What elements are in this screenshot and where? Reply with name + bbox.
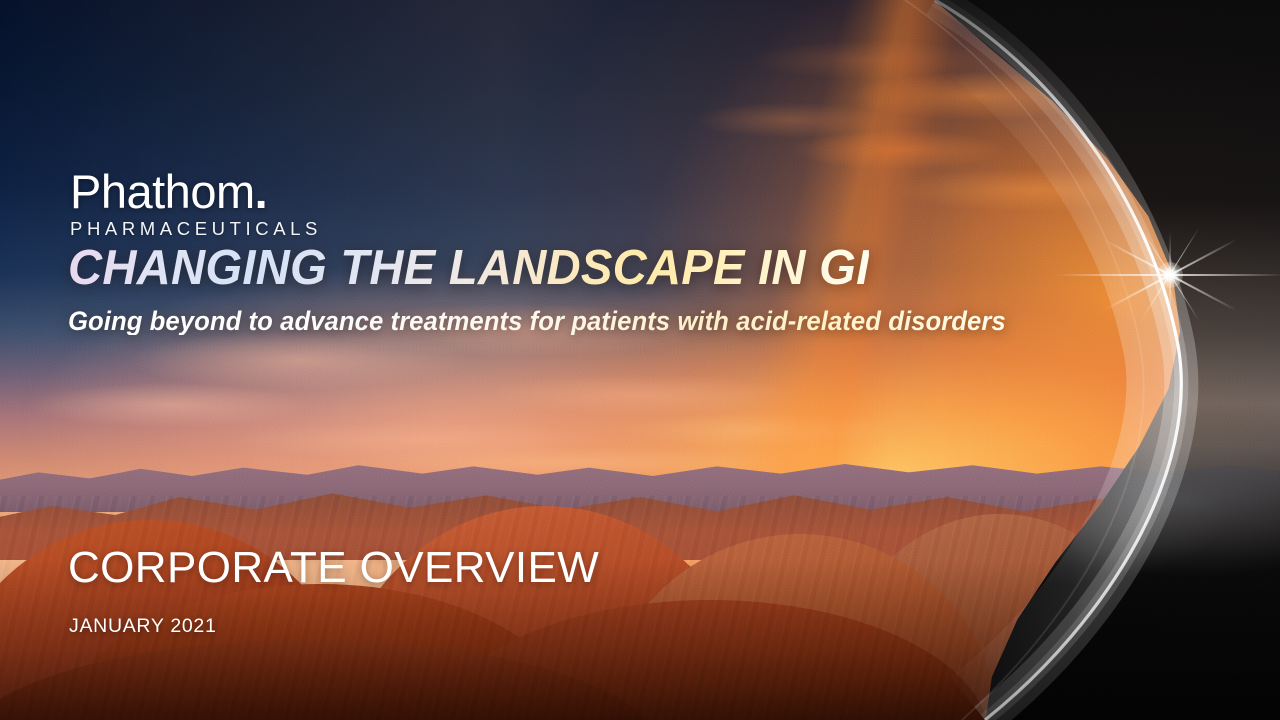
deck-date: JANUARY 2021 bbox=[69, 617, 217, 637]
company-logo: Phathom. PHARMACEUTICALS bbox=[70, 168, 322, 239]
logo-wordmark-text: Phathom bbox=[70, 165, 255, 218]
hero-headline: CHANGING THE LANDSCAPE IN GI bbox=[68, 244, 869, 293]
deck-title: CORPORATE OVERVIEW bbox=[68, 546, 599, 590]
hero-subhead: Going beyond to advance treatments for p… bbox=[68, 308, 1006, 335]
logo-wordmark-dot: . bbox=[255, 165, 268, 218]
logo-descriptor: PHARMACEUTICALS bbox=[70, 220, 322, 239]
slide-content: Phathom. PHARMACEUTICALS CHANGING THE LA… bbox=[0, 0, 1280, 720]
logo-wordmark: Phathom. bbox=[70, 168, 322, 215]
title-slide: Phathom. PHARMACEUTICALS CHANGING THE LA… bbox=[0, 0, 1280, 720]
